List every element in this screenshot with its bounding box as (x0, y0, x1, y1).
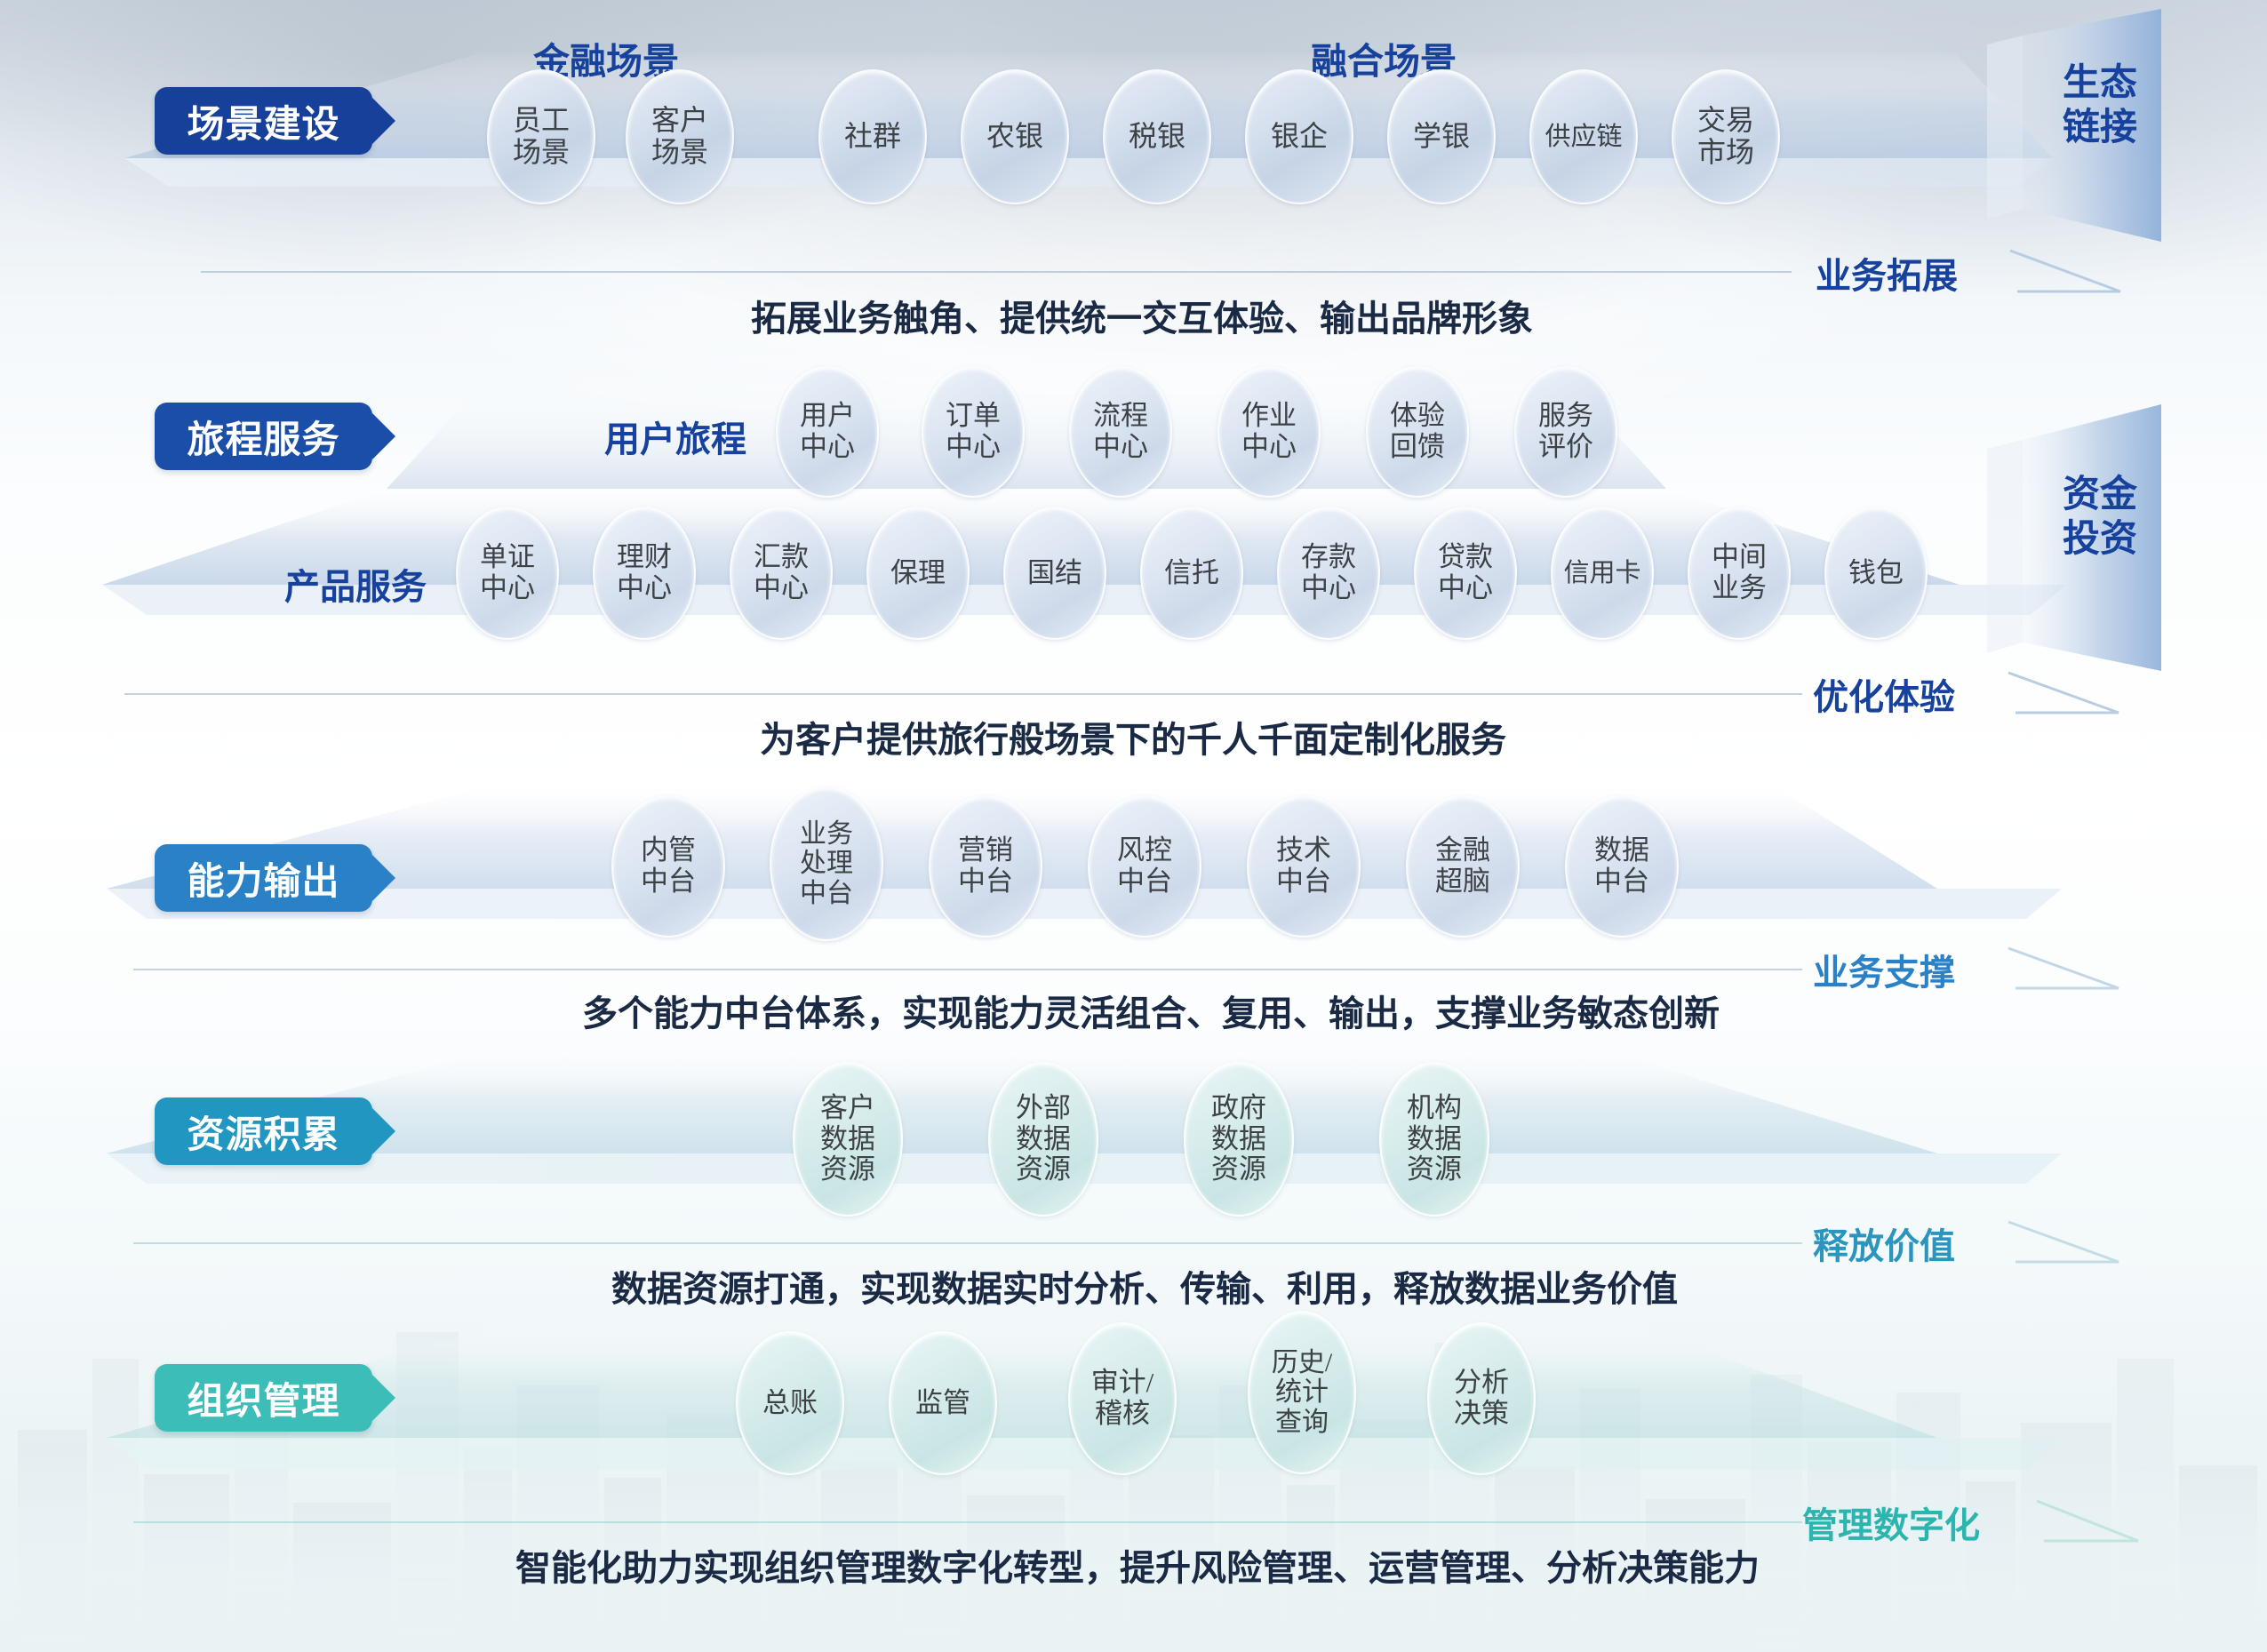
bubble-line: 外部 (1016, 1093, 1071, 1124)
bubble-line: 数据 (1211, 1124, 1266, 1155)
bubble-line: 中心 (617, 573, 672, 604)
bubble-audit-inspection[interactable]: 审计/ 稽核 (1068, 1322, 1177, 1475)
bubble-line: 服务 (1538, 401, 1593, 432)
bubble-line: 中台 (1276, 866, 1331, 898)
bubble-line: 信用卡 (1563, 559, 1640, 587)
bubble-operation-center[interactable]: 作业 中心 (1217, 366, 1321, 498)
bubble-line: 评价 (1538, 432, 1593, 463)
bubble-line: 单证 (480, 542, 535, 573)
bubble-line: 资源 (1016, 1154, 1071, 1185)
badge-organization-management[interactable]: 组织管理 (155, 1364, 372, 1432)
bubble-line: 历史/ (1272, 1348, 1332, 1378)
badge-scene-building-label: 场景建设 (187, 94, 339, 148)
rule-tier-4 (133, 1242, 1802, 1244)
bubble-employee-scene[interactable]: 员工 场景 (487, 69, 595, 204)
bubble-supply-chain[interactable]: 供应链 (1529, 69, 1638, 204)
bubble-customer-scene[interactable]: 客户 场景 (626, 69, 734, 204)
architecture-diagram: 场景建设 金融场景 融合场景 员工 场景 客户 场景 社群 农银 税银 银企 学… (0, 0, 2267, 1652)
bubble-line: 社群 (844, 121, 901, 153)
badge-arrow-tip (372, 855, 395, 901)
bubble-trading-market[interactable]: 交易 市场 (1672, 69, 1780, 204)
ribbon-line: 链接 (2063, 106, 2137, 148)
bubble-deposit-center[interactable]: 存款 中心 (1277, 507, 1380, 640)
side-ribbon-eco-link: 生态 链接 (1987, 9, 2245, 275)
rule-label-business-support: 业务支撑 (1813, 944, 1955, 995)
bubble-line: 总账 (762, 1388, 818, 1419)
bubble-community[interactable]: 社群 (818, 69, 927, 204)
bubble-marketing-midend[interactable]: 营销 中台 (929, 795, 1042, 938)
bubble-wealth-center[interactable]: 理财 中心 (593, 507, 696, 640)
bubble-line: 稽核 (1095, 1399, 1150, 1430)
caption-tier-2: 为客户提供旅行般场景下的千人千面定制化服务 (760, 711, 1506, 762)
rule-label-optimize-experience: 优化体验 (1813, 668, 1955, 720)
caption-tier-1: 拓展业务触角、提供统一交互体验、输出品牌形象 (751, 290, 1533, 341)
bubble-line: 订单 (946, 401, 1001, 432)
rule-tier-5 (133, 1521, 1802, 1523)
bubble-line: 中心 (480, 573, 535, 604)
bubble-line: 分析 (1454, 1368, 1509, 1399)
bubble-line: 中台 (958, 866, 1013, 898)
badge-organization-management-label: 组织管理 (187, 1371, 339, 1425)
bubble-experience-feedback[interactable]: 体验 回馈 (1366, 366, 1469, 498)
bubble-line: 学银 (1413, 121, 1470, 153)
bubble-financial-brain[interactable]: 金融 超脑 (1406, 795, 1520, 938)
bubble-service-rating[interactable]: 服务 评价 (1514, 366, 1617, 498)
badge-arrow-tip (372, 98, 395, 144)
bubble-document-center[interactable]: 单证 中心 (456, 507, 559, 640)
bubble-line: 中心 (1241, 432, 1297, 463)
bubble-process-center[interactable]: 流程 中心 (1069, 366, 1172, 498)
bubble-line: 供应链 (1545, 123, 1622, 151)
badge-journey-service-label: 旅程服务 (187, 410, 339, 464)
bubble-line: 业务 (800, 819, 853, 850)
bubble-line: 机构 (1407, 1093, 1462, 1124)
bubble-line: 监管 (915, 1388, 970, 1419)
bubble-line: 贷款 (1438, 542, 1493, 573)
group-title-user-journey: 用户旅程 (604, 411, 746, 462)
bubble-institution-data-resource[interactable]: 机构 数据 资源 (1379, 1062, 1489, 1217)
bubble-line: 营销 (958, 835, 1013, 866)
bubble-line: 资源 (820, 1154, 875, 1185)
bubble-line: 查询 (1275, 1408, 1329, 1438)
badge-capability-output[interactable]: 能力输出 (155, 844, 372, 912)
bubble-history-statistics-query[interactable]: 历史/ 统计 查询 (1248, 1311, 1356, 1474)
bubble-line: 技术 (1276, 835, 1331, 866)
bubble-line: 金融 (1435, 835, 1490, 866)
badge-scene-building[interactable]: 场景建设 (155, 87, 372, 155)
bubble-line: 场景 (513, 137, 570, 169)
bubble-loan-center[interactable]: 贷款 中心 (1414, 507, 1517, 640)
caption-tier-4: 数据资源打通，实现数据实时分析、传输、利用，释放数据业务价值 (611, 1260, 1678, 1312)
bubble-line: 员工 (513, 105, 570, 137)
bubble-remittance-center[interactable]: 汇款 中心 (730, 507, 833, 640)
bubble-line: 中台 (641, 866, 696, 898)
bubble-line: 农银 (986, 121, 1043, 153)
bubble-school-bank[interactable]: 学银 (1387, 69, 1496, 204)
bubble-line: 处理 (800, 849, 853, 879)
badge-resource-accumulation-label: 资源积累 (187, 1105, 339, 1159)
bubble-line: 作业 (1241, 401, 1297, 432)
bubble-line: 超脑 (1435, 866, 1490, 898)
bubble-line: 理财 (617, 542, 672, 573)
bubble-intl-settlement[interactable]: 国结 (1003, 507, 1106, 640)
bubble-line: 中心 (1093, 432, 1148, 463)
bubble-external-data-resource[interactable]: 外部 数据 资源 (988, 1062, 1098, 1217)
bubble-line: 客户 (651, 105, 708, 137)
badge-journey-service[interactable]: 旅程服务 (155, 403, 372, 470)
bubble-agri-bank[interactable]: 农银 (961, 69, 1069, 204)
bubble-line: 银企 (1271, 121, 1328, 153)
bubble-tax-bank[interactable]: 税银 (1103, 69, 1211, 204)
bubble-line: 汇款 (754, 542, 809, 573)
bubble-line: 数据 (1016, 1124, 1071, 1155)
bubble-line: 回馈 (1390, 432, 1445, 463)
caption-tier-5: 智能化助力实现组织管理数字化转型，提升风险管理、运营管理、分析决策能力 (515, 1539, 1760, 1591)
bubble-line: 客户 (820, 1093, 875, 1124)
bubble-data-midend[interactable]: 数据 中台 (1565, 795, 1679, 938)
bubble-line: 税银 (1129, 121, 1185, 153)
arrow-tier-4 (2007, 1217, 2122, 1269)
side-ribbon-capital-investment-text: 资金 投资 (2042, 472, 2158, 560)
bubble-line: 数据 (1407, 1124, 1462, 1155)
bubble-line: 中台 (1117, 866, 1172, 898)
bubble-line: 数据 (820, 1124, 875, 1155)
bubble-line: 中台 (800, 879, 853, 909)
bubble-line: 场景 (651, 137, 708, 169)
bubble-line: 内管 (641, 835, 696, 866)
bubble-line: 审计/ (1091, 1368, 1154, 1399)
bubble-line: 风控 (1117, 835, 1172, 866)
arrow-tier-5 (2035, 1496, 2142, 1548)
bubble-user-center[interactable]: 用户 中心 (776, 366, 879, 498)
bubble-risk-control-midend[interactable]: 风控 中台 (1088, 795, 1201, 938)
bubble-line: 钱包 (1848, 558, 1904, 589)
badge-arrow-tip (372, 1108, 395, 1154)
side-ribbon-capital-investment: 资金 投资 (1987, 404, 2245, 698)
bubble-internal-mgmt-midend[interactable]: 内管 中台 (611, 795, 725, 938)
bubble-line: 保理 (890, 558, 946, 589)
ribbon-line: 投资 (2063, 517, 2137, 559)
bubble-line: 用户 (800, 401, 855, 432)
bubble-line: 信托 (1164, 558, 1219, 589)
arrow-tier-3 (2007, 944, 2122, 995)
bubble-line: 流程 (1093, 401, 1148, 432)
bubble-line: 统计 (1275, 1377, 1329, 1408)
tier-3-platform-shape (107, 782, 2062, 995)
bubble-line: 中心 (946, 432, 1001, 463)
bubble-line: 国结 (1027, 558, 1082, 589)
bubble-line: 决策 (1454, 1399, 1509, 1430)
bubble-trust[interactable]: 信托 (1140, 507, 1243, 640)
rule-label-release-value: 释放价值 (1813, 1217, 1955, 1269)
bubble-line: 市场 (1697, 137, 1754, 169)
bubble-line: 业务 (1712, 573, 1767, 604)
bubble-line: 交易 (1697, 105, 1754, 137)
ribbon-line: 资金 (2063, 473, 2137, 515)
bubble-line: 中间 (1712, 542, 1767, 573)
bubble-line: 资源 (1407, 1154, 1462, 1185)
bubble-analysis-decision[interactable]: 分析 决策 (1427, 1322, 1536, 1475)
rule-tier-1 (201, 271, 1792, 273)
bubble-line: 政府 (1211, 1093, 1266, 1124)
bubble-wallet[interactable]: 钱包 (1824, 507, 1928, 640)
rule-tier-2 (124, 693, 1802, 695)
bubble-line: 资源 (1211, 1154, 1266, 1185)
caption-tier-3: 多个能力中台体系，实现能力灵活组合、复用、输出，支撑业务敏态创新 (582, 985, 1720, 1036)
rule-tier-3 (133, 969, 1802, 970)
bubble-credit-card[interactable]: 信用卡 (1551, 507, 1654, 640)
badge-arrow-tip (372, 413, 395, 459)
bubble-supervision[interactable]: 监管 (889, 1331, 997, 1475)
rule-label-management-digitalization: 管理数字化 (1802, 1496, 1980, 1548)
bubble-general-ledger[interactable]: 总账 (736, 1331, 844, 1475)
bubble-customer-data-resource[interactable]: 客户 数据 资源 (793, 1062, 903, 1217)
bubble-line: 中心 (800, 432, 855, 463)
side-ribbon-eco-link-text: 生态 链接 (2042, 60, 2158, 148)
group-title-product-service: 产品服务 (284, 558, 427, 610)
bubble-line: 存款 (1301, 542, 1356, 573)
bubble-line: 中心 (754, 573, 809, 604)
bubble-line: 中心 (1301, 573, 1356, 604)
bubble-intermediary-business[interactable]: 中间 业务 (1688, 507, 1791, 640)
bubble-government-data-resource[interactable]: 政府 数据 资源 (1184, 1062, 1294, 1217)
badge-capability-output-label: 能力输出 (187, 851, 339, 906)
bubble-line: 中心 (1438, 573, 1493, 604)
badge-resource-accumulation[interactable]: 资源积累 (155, 1097, 372, 1165)
bubble-line: 中台 (1594, 866, 1649, 898)
bubble-bank-enterprise[interactable]: 银企 (1245, 69, 1353, 204)
bubble-line: 体验 (1390, 401, 1445, 432)
bubble-business-processing-midend[interactable]: 业务 处理 中台 (770, 786, 883, 941)
bubble-factoring[interactable]: 保理 (866, 507, 970, 640)
rule-label-business-expansion: 业务拓展 (1816, 247, 1958, 299)
badge-arrow-tip (372, 1375, 395, 1421)
ribbon-line: 生态 (2063, 61, 2137, 103)
bubble-technology-midend[interactable]: 技术 中台 (1247, 795, 1361, 938)
bubble-line: 数据 (1594, 835, 1649, 866)
bubble-order-center[interactable]: 订单 中心 (922, 366, 1025, 498)
